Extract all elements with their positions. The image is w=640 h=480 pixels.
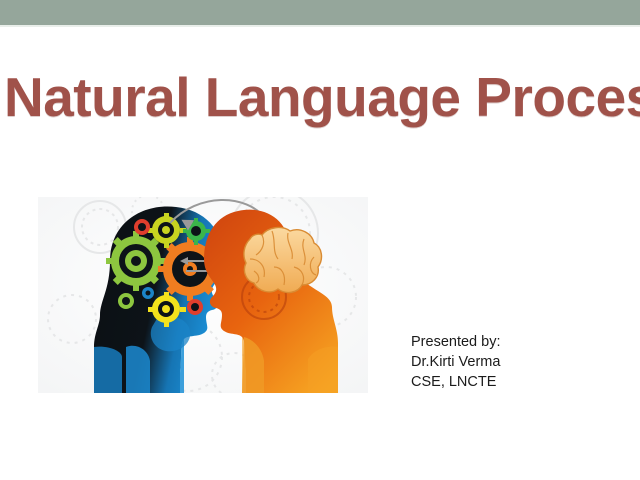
gear-green-small-lower [118, 293, 134, 309]
brain-illustration [244, 228, 322, 293]
presented-by-label: Presented by: [411, 332, 500, 352]
presenter-affiliation: CSE, LNCTE [411, 372, 500, 392]
gear-red-small-bottom [187, 299, 203, 315]
heads-illustration-svg [38, 197, 368, 393]
page-title: Natural Language Processing [4, 66, 640, 128]
slide: Natural Language Processing [0, 0, 640, 480]
presenter-name: Dr.Kirti Verma [411, 352, 500, 372]
gear-blue-small [142, 287, 154, 299]
presenter-block: Presented by: Dr.Kirti Verma CSE, LNCTE [411, 332, 500, 392]
top-decorative-band [0, 0, 640, 25]
nlp-illustration [38, 197, 368, 393]
gear-red-small-top [134, 219, 150, 235]
top-band-hairline [0, 25, 640, 27]
